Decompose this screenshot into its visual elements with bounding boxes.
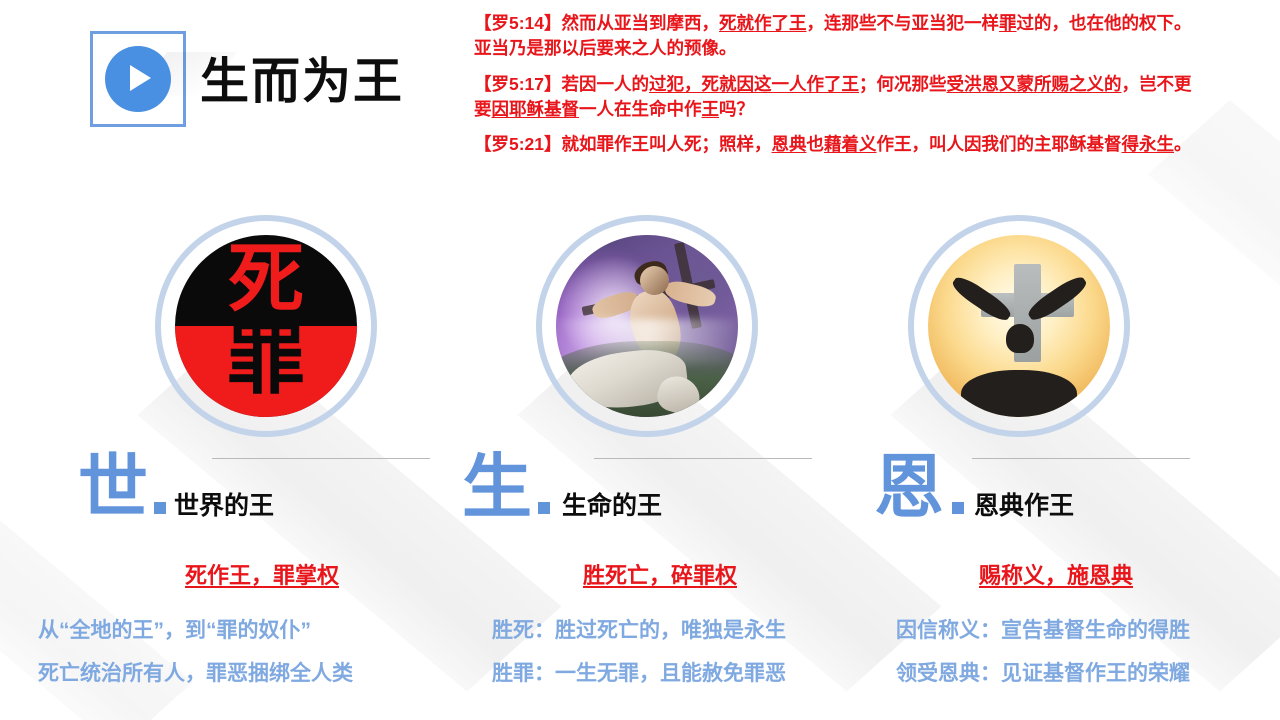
verse-text: 然而从亚当到摩西， xyxy=(562,13,720,33)
column-image-3 xyxy=(908,215,1130,437)
verse-text: 就如罪作王叫人死；照样， xyxy=(562,134,772,154)
verse-emphasis: 死就作了王 xyxy=(719,13,807,33)
verse-text: 吗？ xyxy=(719,99,754,119)
bullet-line: 死亡统治所有人，罪恶捆绑全人类 xyxy=(38,663,353,684)
scripture-verse: 【罗5:21】就如罪作王叫人死；照样，恩典也藉着义作王，叫人因我们的主耶稣基督得… xyxy=(474,132,1204,157)
heading-divider xyxy=(594,458,812,459)
red-headline-1: 死作王，罪掌权 xyxy=(62,558,462,590)
slide-canvas: 生而为王 【罗5:14】然而从亚当到摩西，死就作了王，连那些不与亚当犯一样罪过的… xyxy=(0,0,1280,720)
heading-dot xyxy=(538,502,550,514)
circle-ring xyxy=(536,215,758,437)
verse-reference: 【罗5:21】 xyxy=(474,134,562,154)
verse-emphasis: 罪 xyxy=(999,13,1017,33)
red-headline-text: 赐称义，施恩典 xyxy=(979,563,1133,588)
heading-big-char: 恩 xyxy=(874,452,944,522)
bullet-line: 胜罪：一生无罪，且能赦免罪恶 xyxy=(492,663,786,684)
page-title: 生而为王 xyxy=(200,42,404,113)
circle-ring xyxy=(155,215,377,437)
verse-emphasis: 得永生 xyxy=(1122,134,1175,154)
verse-text: 也 xyxy=(807,134,825,154)
heading-divider xyxy=(212,458,430,459)
verse-emphasis: 过犯，死就因这一人作了王 xyxy=(649,74,859,94)
bullet-line: 胜死：胜过死亡的，唯独是永生 xyxy=(492,620,786,641)
heading-dot xyxy=(952,502,964,514)
verse-text: 。 xyxy=(1174,134,1192,154)
heading-big-char: 世 xyxy=(78,452,148,522)
verse-emphasis: 藉着义 xyxy=(824,134,877,154)
verse-text: ，连那些不与亚当犯一样 xyxy=(807,13,1000,33)
heading-subtitle: 世界的王 xyxy=(174,486,274,522)
verse-emphasis: 恩典 xyxy=(772,134,807,154)
column-bullets-1: 从“全地的王”，到“罪的奴仆” 死亡统治所有人，罪恶捆绑全人类 xyxy=(38,620,353,706)
verse-text: ；何况那些 xyxy=(859,74,947,94)
bullet-line: 领受恩典：见证基督作王的荣耀 xyxy=(896,663,1190,684)
verse-emphasis: 受洪恩又蒙所赐之义的 xyxy=(947,74,1122,94)
red-headline-text: 死作王，罪掌权 xyxy=(185,563,339,588)
play-triangle-icon xyxy=(130,65,151,91)
circle-ring xyxy=(908,215,1130,437)
verse-reference: 【罗5:17】 xyxy=(474,74,562,94)
verse-text: 作王，叫人因我们的主耶稣基督 xyxy=(877,134,1122,154)
play-button-icon xyxy=(105,46,171,112)
scripture-verse: 【罗5:14】然而从亚当到摩西，死就作了王，连那些不与亚当犯一样罪过的，也在他的… xyxy=(474,11,1204,61)
verse-emphasis: 因耶稣基督 xyxy=(492,99,580,119)
verse-emphasis: 王 xyxy=(702,99,720,119)
heading-subtitle: 恩典作王 xyxy=(974,486,1074,522)
heading-subtitle: 生命的王 xyxy=(562,486,662,522)
column-image-1: 死 罪 xyxy=(155,215,377,437)
verse-reference: 【罗5:14】 xyxy=(474,13,562,33)
verse-text: 若因一人的 xyxy=(562,74,650,94)
bullet-line: 因信称义：宣告基督生命的得胜 xyxy=(896,620,1190,641)
red-headline-2: 胜死亡，碎罪权 xyxy=(460,558,860,590)
heading-dot xyxy=(154,502,166,514)
heading-big-char: 生 xyxy=(462,452,532,522)
column-bullets-3: 因信称义：宣告基督生命的得胜 领受恩典：见证基督作王的荣耀 xyxy=(896,620,1190,706)
heading-divider xyxy=(972,458,1190,459)
red-headline-3: 赐称义，施恩典 xyxy=(856,558,1256,590)
column-image-2 xyxy=(536,215,758,437)
verse-text: 一人在生命中作 xyxy=(579,99,702,119)
bullet-line: 从“全地的王”，到“罪的奴仆” xyxy=(38,620,353,641)
scripture-verse: 【罗5:17】若因一人的过犯，死就因这一人作了王；何况那些受洪恩又蒙所赐之义的，… xyxy=(474,72,1204,122)
column-bullets-2: 胜死：胜过死亡的，唯独是永生 胜罪：一生无罪，且能赦免罪恶 xyxy=(492,620,786,706)
red-headline-text: 胜死亡，碎罪权 xyxy=(583,563,737,588)
scripture-block: 【罗5:14】然而从亚当到摩西，死就作了王，连那些不与亚当犯一样罪过的，也在他的… xyxy=(474,11,1204,168)
